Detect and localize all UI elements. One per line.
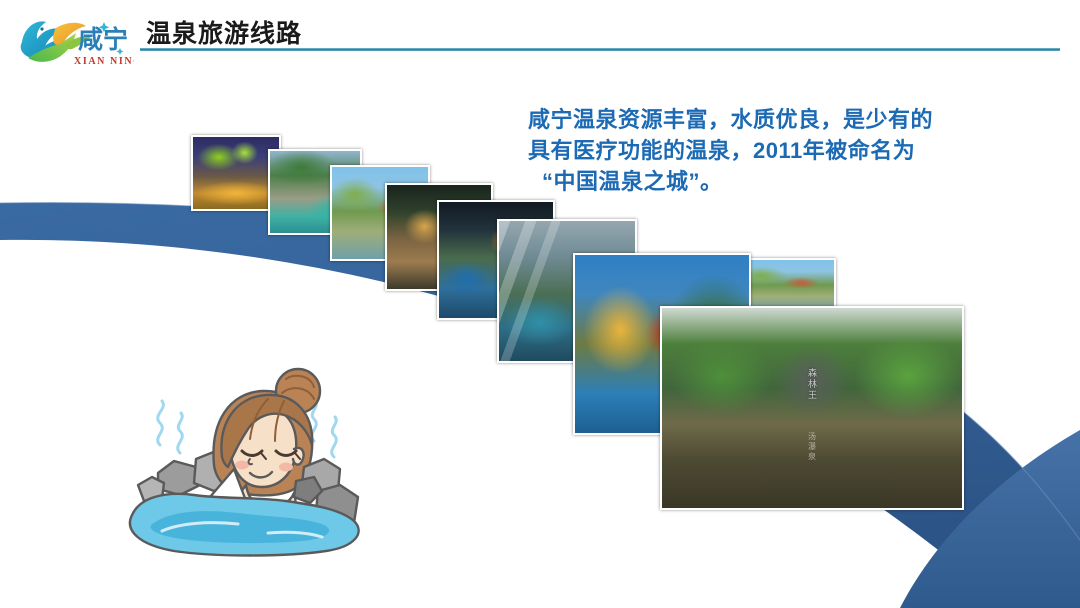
slide: 咸宁 XIAN NING 温泉旅游线路 咸宁温泉资源丰富，水质优良，是少有的 具… <box>0 0 1080 608</box>
lead-line-2: 具有医疗功能的温泉，2011年被命名为 <box>528 135 998 166</box>
collage-photo-8: 森林王 汤瀑泉 <box>660 306 964 510</box>
page-title: 温泉旅游线路 <box>146 14 302 50</box>
lead-line-1: 咸宁温泉资源丰富，水质优良，是少有的 <box>528 104 998 135</box>
lead-line-3: “中国温泉之城”。 <box>528 166 998 197</box>
logo-pinyin-text: XIAN NING <box>74 56 134 67</box>
lead-paragraph: 咸宁温泉资源丰富，水质优良，是少有的 具有医疗功能的温泉，2011年被命名为 “… <box>528 104 998 197</box>
photo-8-watermark-2: 汤瀑泉 <box>807 432 818 462</box>
hot-spring-girl-illustration <box>118 345 386 560</box>
logo-chinese-text: 咸宁 <box>78 25 128 54</box>
logo-mark: 咸宁 XIAN NING <box>12 8 134 74</box>
xianning-logo: 咸宁 XIAN NING <box>12 8 134 74</box>
slide-header: 咸宁 XIAN NING 温泉旅游线路 <box>0 0 1080 80</box>
photo-8-watermark: 森林王 <box>806 368 818 401</box>
collage-photo-8-reflection <box>660 510 964 572</box>
header-divider <box>140 48 1060 51</box>
